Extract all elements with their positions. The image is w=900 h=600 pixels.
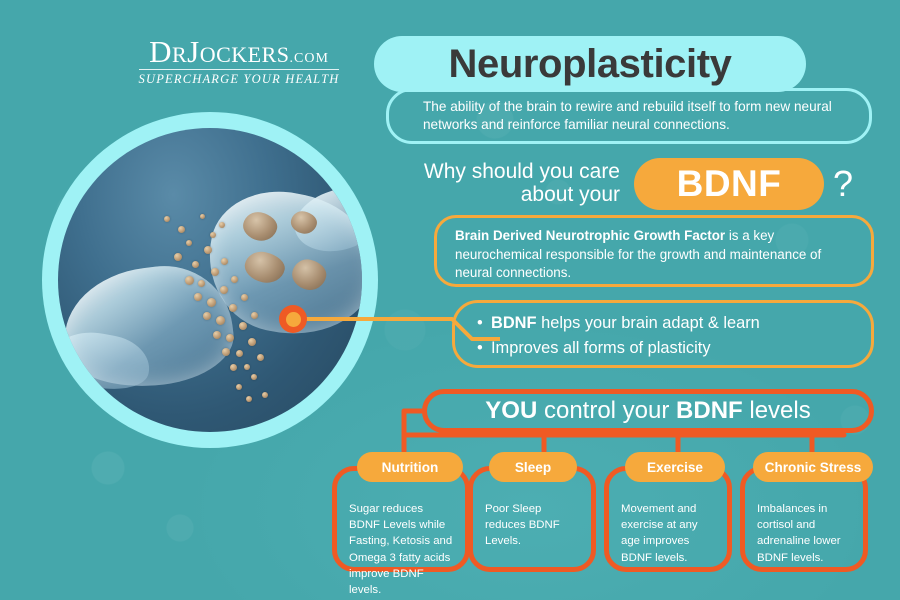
page-subtitle: The ability of the brain to rewire and r… — [423, 98, 845, 135]
factor-card-body: Sugar reduces BDNF Levels while Fasting,… — [337, 493, 465, 598]
why-care-row: Why should you care about your BDNF ? — [412, 156, 882, 212]
factor-sleep-text: Poor Sleep reduces BDNF Levels. — [485, 501, 580, 550]
logo-letter-j: J — [187, 34, 200, 69]
bdnf-highlight-pill: BDNF — [634, 158, 824, 210]
benefit-bullet-2: •Improves all forms of plasticity — [477, 336, 857, 361]
factor-card-body: Movement and exercise at any age improve… — [609, 493, 727, 566]
benefit-bullet-1: •BDNF helps your brain adapt & learn — [477, 311, 857, 336]
factor-card-body: Imbalances in cortisol and adrenaline lo… — [745, 493, 863, 566]
bdnf-benefits-box: •BDNF helps your brain adapt & learn •Im… — [452, 300, 874, 368]
factor-chronic-stress-label: Chronic Stress — [765, 460, 862, 475]
infographic-canvas: DRJOCKERS.COM SUPERCHARGE YOUR HEALTH — [0, 0, 900, 600]
brand-logo[interactable]: DRJOCKERS.COM SUPERCHARGE YOUR HEALTH — [104, 36, 374, 88]
factor-exercise-text: Movement and exercise at any age improve… — [621, 501, 716, 566]
factor-pill-sleep[interactable]: Sleep — [489, 452, 577, 482]
factor-pill-exercise[interactable]: Exercise — [625, 452, 725, 482]
factor-chronic-stress-text: Imbalances in cortisol and adrenaline lo… — [757, 501, 852, 566]
bdnf-definition-text: Brain Derived Neurotrophic Growth Factor… — [455, 227, 855, 283]
callout-connector-line — [300, 294, 500, 344]
factor-pill-nutrition[interactable]: Nutrition — [357, 452, 463, 482]
page-subtitle-box: The ability of the brain to rewire and r… — [386, 88, 872, 144]
factor-nutrition-label: Nutrition — [382, 460, 439, 475]
factor-pill-chronic-stress[interactable]: Chronic Stress — [753, 452, 873, 482]
logo-dotcom: .COM — [290, 51, 329, 66]
logo-text-ockers: OCKERS — [200, 42, 290, 67]
brand-logo-wordmark: DRJOCKERS.COM — [104, 36, 374, 67]
why-care-line-1: Why should you care — [412, 161, 620, 184]
logo-letter-d: D — [149, 34, 172, 69]
factor-card-body: Poor Sleep reduces BDNF Levels. — [473, 493, 591, 550]
bdnf-definition-box: Brain Derived Neurotrophic Growth Factor… — [434, 215, 874, 287]
why-care-line-2: about your — [412, 184, 620, 207]
benefit-1-text: helps your brain adapt & learn — [537, 314, 760, 332]
page-title: Neuroplasticity — [449, 42, 732, 87]
benefit-2-text: Improves all forms of plasticity — [491, 339, 711, 357]
bdnf-definition-term: Brain Derived Neurotrophic Growth Factor — [455, 228, 725, 243]
why-care-question: Why should you care about your — [412, 161, 620, 206]
bdnf-highlight-label: BDNF — [677, 163, 782, 205]
logo-letter-r: R — [172, 42, 187, 67]
factor-sleep-label: Sleep — [515, 460, 551, 475]
factor-exercise-label: Exercise — [647, 460, 703, 475]
question-mark: ? — [833, 163, 853, 205]
factor-nutrition-text: Sugar reduces BDNF Levels while Fasting,… — [349, 501, 454, 598]
bdnf-callout-marker[interactable] — [279, 305, 307, 333]
brand-tagline: SUPERCHARGE YOUR HEALTH — [139, 69, 340, 87]
page-title-banner: Neuroplasticity — [374, 36, 806, 92]
